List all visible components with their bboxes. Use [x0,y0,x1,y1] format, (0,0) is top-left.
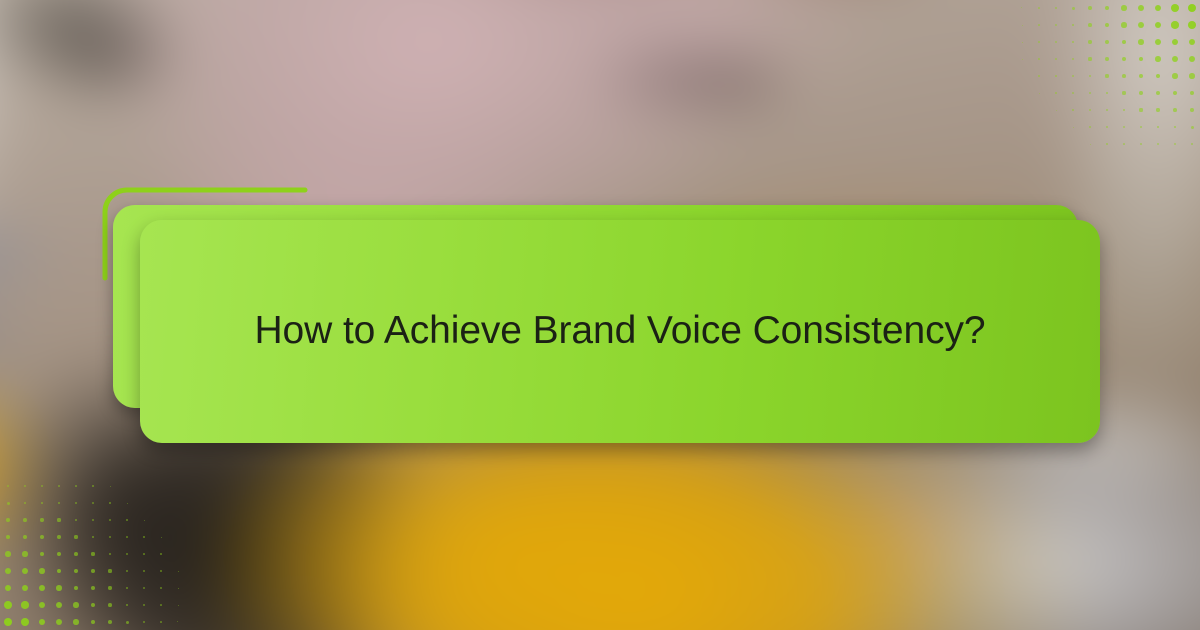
card-stack: How to Achieve Brand Voice Consistency? [100,185,1105,450]
title-container: How to Achieve Brand Voice Consistency? [140,220,1100,443]
page-title: How to Achieve Brand Voice Consistency? [254,307,985,356]
banner-canvas: How to Achieve Brand Voice Consistency? [0,0,1200,630]
